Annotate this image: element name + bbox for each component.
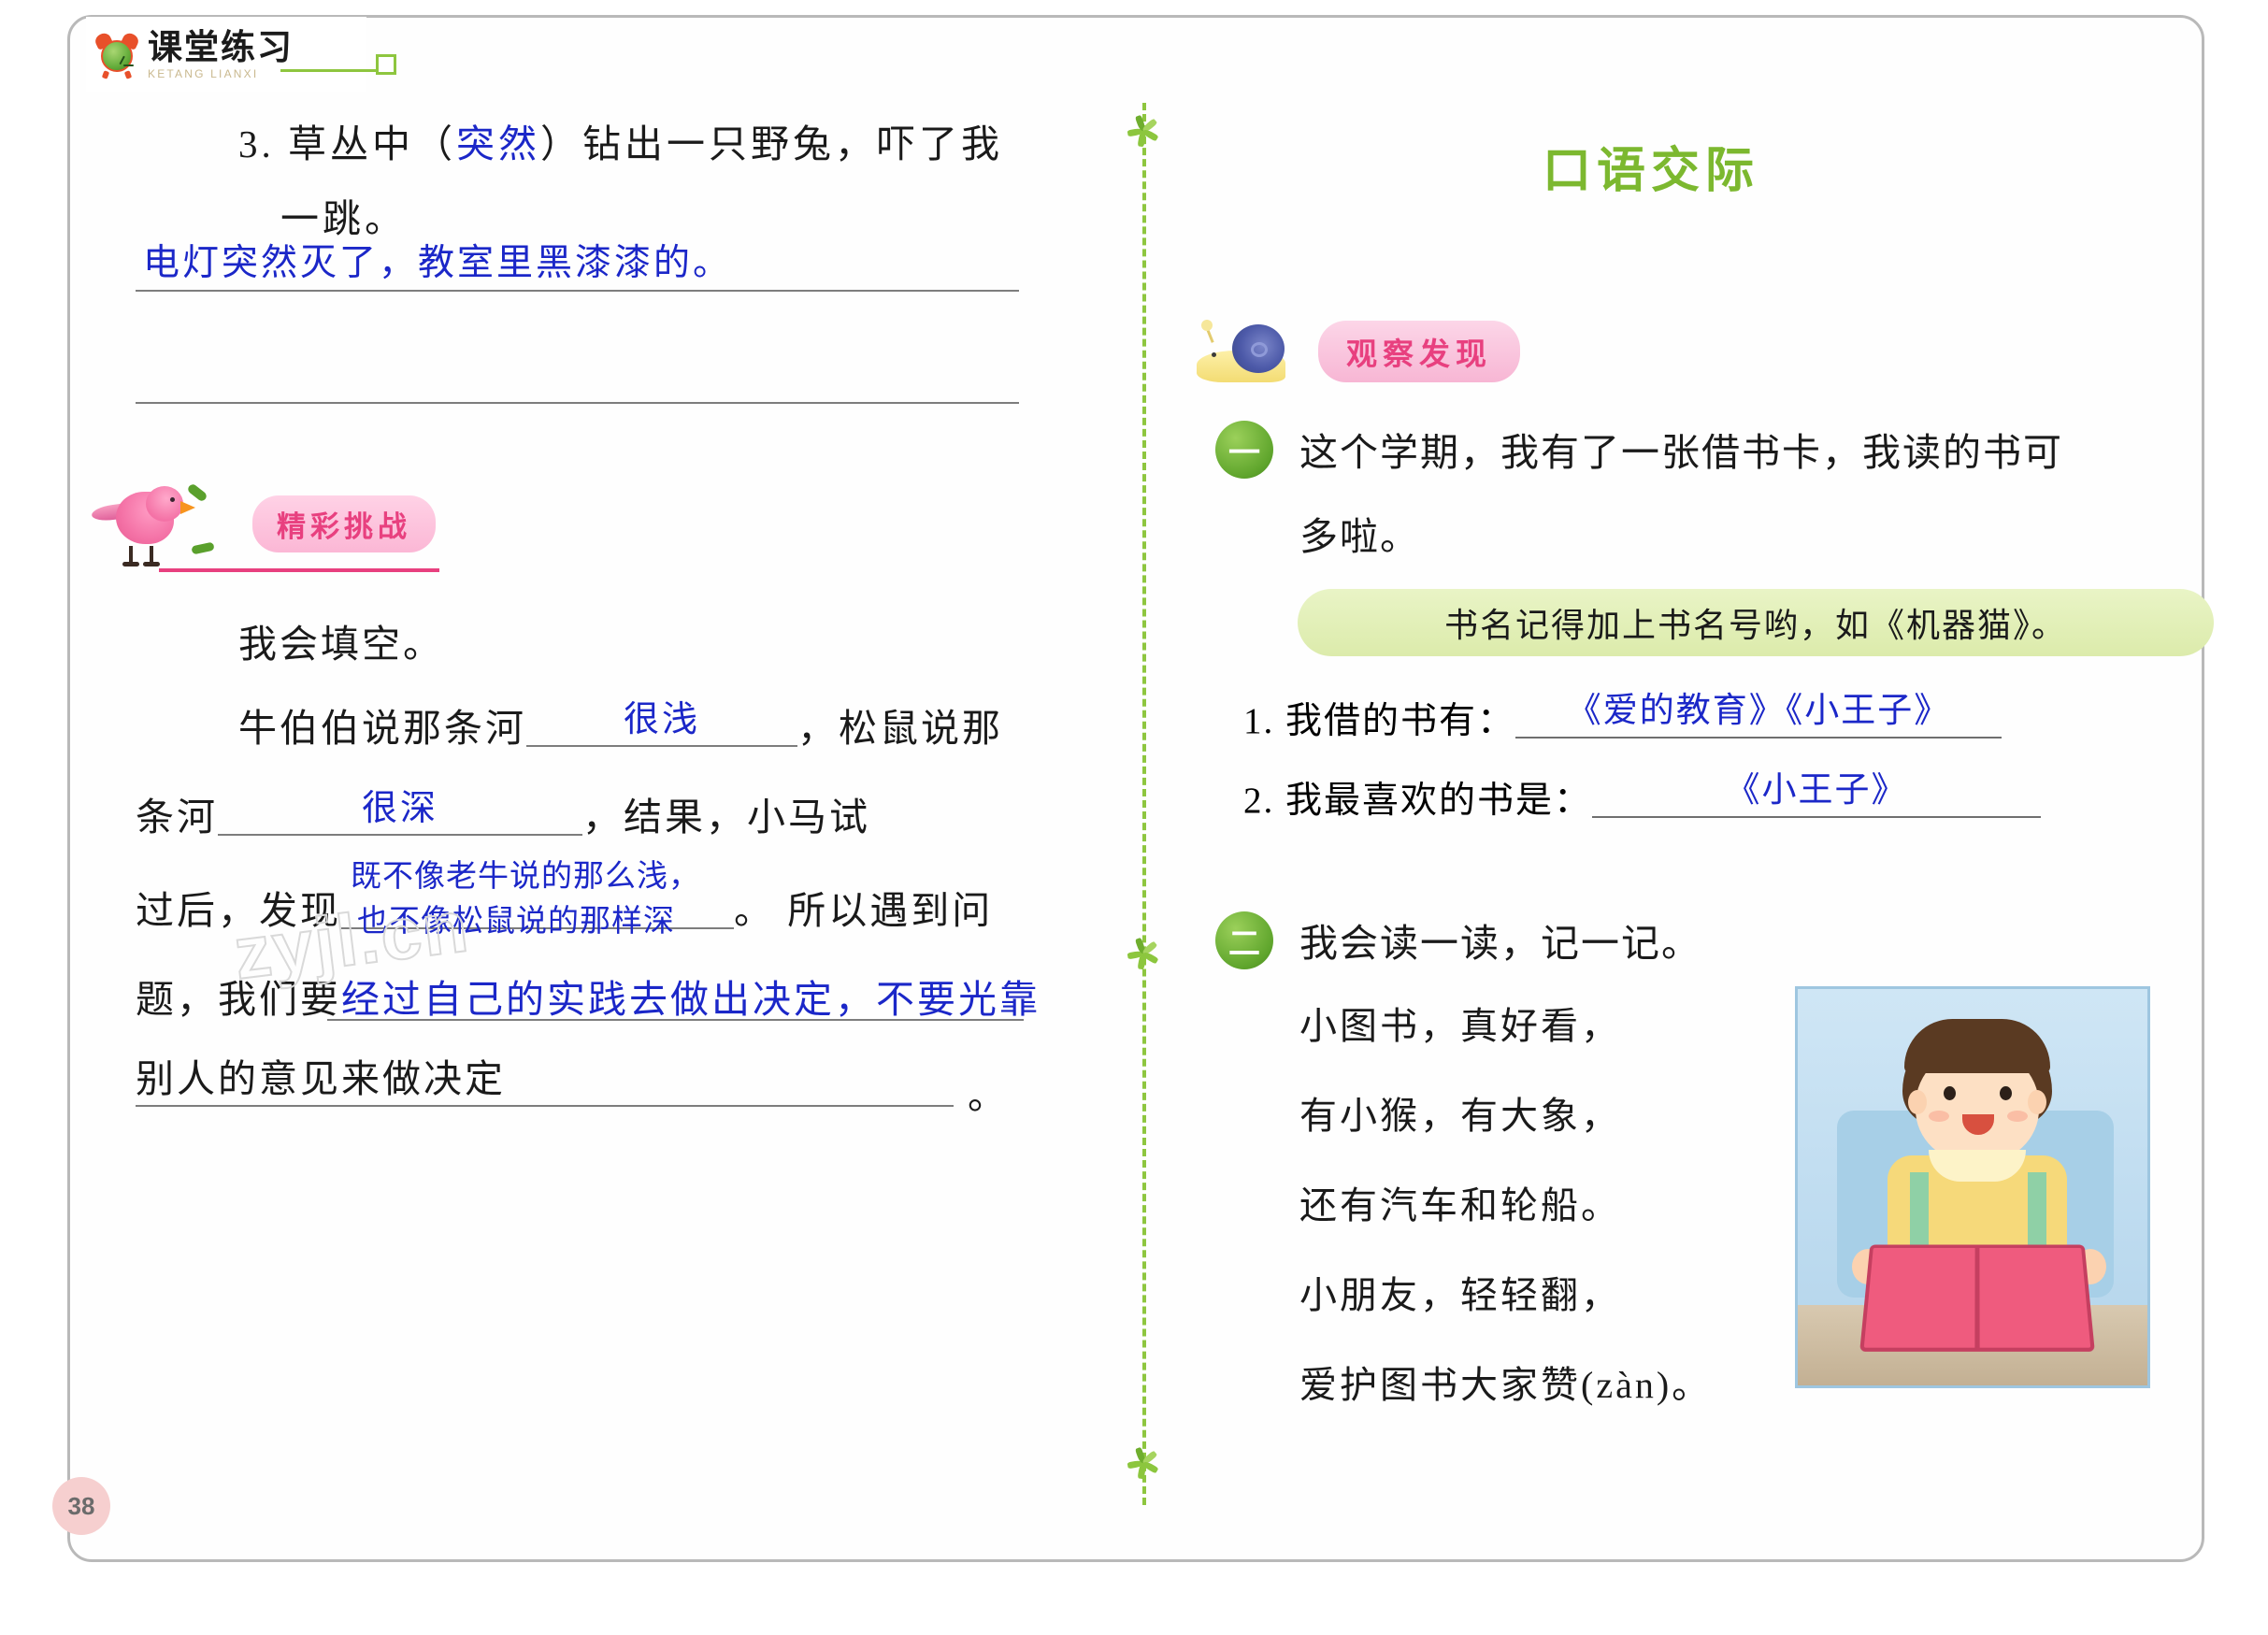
poem-line: 小朋友，轻轻翻， [1299,1265,1712,1319]
section-title: 口语交际 [1543,131,1759,201]
sentence-line-2: 条河很深，结果，小马试 [136,785,870,841]
poem-line: 有小猴，有大象， [1299,1085,1712,1140]
blank-4-rule-2[interactable] [136,1105,954,1107]
observation-badge-group: 观察发现 [1197,313,1571,397]
question-3-line-1: 3. 草丛中（突然）钻出一只野兔，吓了我 [238,112,1117,168]
sentence-line-1: 牛伯伯说那条河很浅，松鼠说那 [238,696,1003,753]
poem-line: 还有汽车和轮船。 [1299,1175,1712,1229]
leaf-decor-icon [1125,935,1162,972]
header-title: 课堂练习 [148,30,294,65]
pink-bird-icon [93,484,196,565]
sentence-part-2: ，松鼠说那 [797,707,1003,750]
column-divider [1142,103,1146,1505]
q3-prefix: 3. 草丛中（ [238,122,456,165]
sentence-part-6: 。 所以遇到问 [734,889,993,932]
sub-question-2-answer: 《小王子》 [1592,761,2041,811]
blank-2[interactable]: 很深 [218,795,582,836]
poem-block: 小图书，真好看， 有小猴，有大象， 还有汽车和轮船。 小朋友，轻轻翻， 爱护图书… [1299,996,1712,1444]
sentence-final-period: 。 [968,1064,1009,1120]
blank-1[interactable]: 很浅 [526,706,797,747]
sentence-part-4: ，结果，小马试 [582,796,870,839]
answer-ruled-line-2[interactable] [136,402,1019,404]
challenge-badge-group: 精彩挑战 [93,477,486,580]
snail-icon [1197,324,1295,382]
blank-2-answer: 很深 [218,779,582,830]
sub-question-2: 2. 我最喜欢的书是：《小王子》 [1243,771,2041,824]
boy-reading-book-illustration [1795,986,2150,1388]
item-1-line-2: 多啦。 [1299,505,1420,561]
answer-text-1: 电灯突然灭了，教室里黑漆漆的。 [143,234,732,286]
header-pinyin: KETANG LIANXI [148,68,294,79]
sentence-part-3: 条河 [136,796,218,839]
q3-suffix: ）钻出一只野兔，吓了我 [540,122,1003,165]
sub-question-1-label: 1. 我借的书有： [1243,701,1515,741]
sentence-part-7: 题，我们要 [136,978,341,1021]
question-3: 3. 草丛中（突然）钻出一只野兔，吓了我 一跳。 [238,112,1117,168]
observation-badge-label: 观察发现 [1318,321,1520,382]
sub-question-2-blank[interactable]: 《小王子》 [1592,777,2041,818]
poem-line: 小图书，真好看， [1299,996,1712,1050]
header-rule [280,69,381,72]
sentence-part-1: 牛伯伯说那条河 [238,707,526,750]
blank-4-answer-line-1: 经过自己的实践去做出决定，不要光靠 [341,978,1041,1021]
alarm-clock-icon [95,33,138,76]
challenge-badge-underline [159,568,439,572]
blank-4-answer-line-2: 别人的意见来做决定 [136,1047,506,1103]
sub-question-2-label: 2. 我最喜欢的书是： [1243,781,1592,821]
worksheet-page: 课堂练习 KETANG LIANXI 3. 草丛中（突然）钻出一只野兔，吓了我 … [0,0,2268,1635]
tip-box: 书名记得加上书名号哟，如《机器猫》。 [1298,589,2214,656]
item-2-line-1: 我会读一读，记一记。 [1299,911,1701,968]
sentence-part-5: 过后，发现 [136,889,341,932]
blank-1-answer: 很浅 [526,690,797,741]
leaf-decor-icon [1125,112,1162,150]
header-square-decor [376,54,396,75]
sub-question-1-answer: 《爱的教育》《小王子》 [1515,681,2002,732]
blank-3-answer-line-2: 也不像松鼠说的那样深 [357,896,675,940]
leaf-decor-icon [1125,1444,1162,1482]
sub-question-1: 1. 我借的书有：《爱的教育》《小王子》 [1243,692,2002,744]
challenge-badge-label: 精彩挑战 [252,495,436,552]
page-number: 38 [52,1477,110,1535]
sentence-line-4: 题，我们要经过自己的实践去做出决定，不要光靠 [136,968,1041,1024]
fill-in-blank-title: 我会填空。 [238,612,444,668]
poem-line: 爱护图书大家赞(zàn)。 [1299,1355,1712,1409]
item-1-line-1: 这个学期，我有了一张借书卡，我读的书可 [1299,421,2063,477]
page-header: 课堂练习 KETANG LIANXI [86,17,366,92]
sub-question-1-blank[interactable]: 《爱的教育》《小王子》 [1515,697,2002,739]
item-number-2: 二 [1215,911,1273,969]
blank-3-answer-line-1: 既不像老牛说的那么浅， [351,851,700,896]
blank-4-rule-1[interactable] [327,1019,1024,1021]
answer-ruled-line-1[interactable]: 电灯突然灭了，教室里黑漆漆的。 [136,290,1019,292]
item-number-1: 一 [1215,421,1273,479]
q3-filled-answer: 突然 [456,122,540,165]
